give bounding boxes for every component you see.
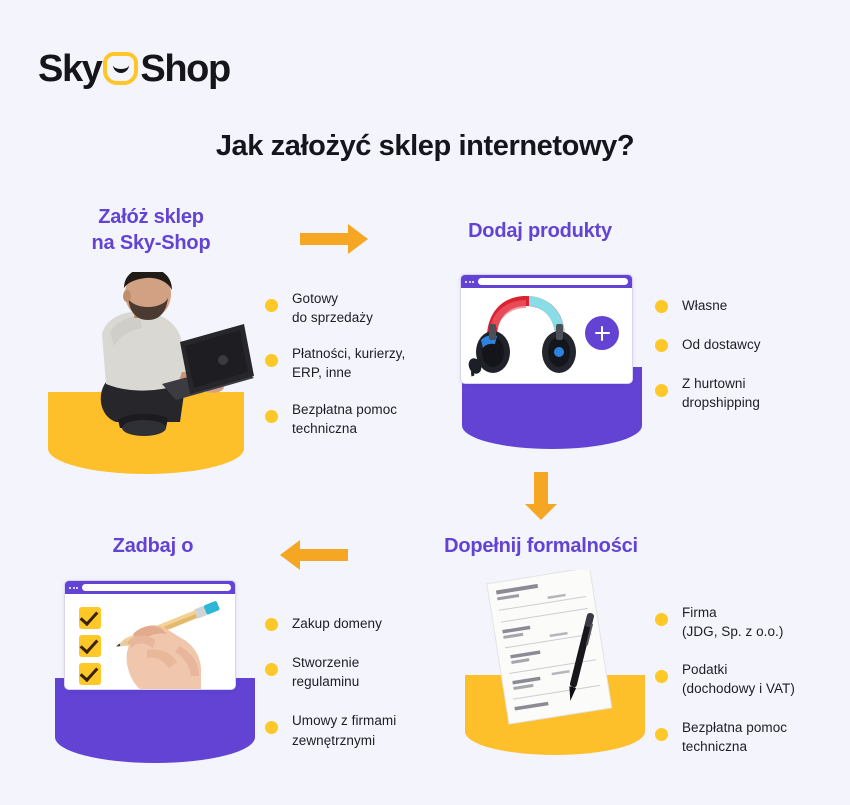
- bullet-dot-icon: [265, 618, 278, 631]
- list-item-label: Bezpłatna pomoc techniczna: [682, 718, 787, 756]
- list-item: Bezpłatna pomoc techniczna: [265, 401, 440, 438]
- list-item: Płatności, kurierzy, ERP, inne: [265, 345, 440, 382]
- check-icon: [80, 635, 99, 654]
- page-title: Jak założyć sklep internetowy?: [0, 130, 850, 163]
- list-item: Bezpłatna pomoc techniczna: [655, 719, 835, 756]
- bullet-dot-icon: [265, 721, 278, 734]
- list-item-label: Podatki (dochodowy i VAT): [682, 660, 795, 698]
- window-dots-icon: [465, 281, 474, 283]
- checkbox-item-1[interactable]: [79, 607, 101, 629]
- infographic-page: Sky Shop Jak założyć sklep internetowy? …: [0, 0, 850, 805]
- check-icon: [80, 607, 99, 626]
- step-2-heading: Dodaj produkty: [430, 219, 650, 245]
- document-with-pen-image: [460, 570, 650, 730]
- check-icon: [80, 663, 99, 682]
- window-dots-icon: [69, 587, 78, 589]
- bullet-dot-icon: [265, 354, 278, 367]
- logo-text-sky: Sky: [38, 50, 101, 88]
- browser-content-area: [461, 288, 632, 383]
- bullet-dot-icon: [265, 299, 278, 312]
- list-item-label: Zakup domeny: [292, 614, 382, 633]
- add-product-button[interactable]: [585, 316, 619, 350]
- step-3-heading: Dopełnij formalności: [425, 534, 657, 560]
- bullet-dot-icon: [265, 663, 278, 676]
- list-item-label: Stworzenie regulaminu: [292, 653, 359, 691]
- list-item-label: Gotowy do sprzedaży: [292, 289, 373, 327]
- browser-url-bar[interactable]: [478, 278, 628, 285]
- step-4-heading: Zadbaj o: [48, 534, 258, 560]
- hand-with-pencil-image: [107, 594, 231, 690]
- browser-content-area: [65, 594, 235, 689]
- bullet-dot-icon: [655, 613, 668, 626]
- illustration-product-headset: [455, 272, 645, 457]
- browser-window-mock: [460, 274, 633, 384]
- list-item-label: Własne: [682, 296, 727, 315]
- arrow-down-icon: [521, 470, 561, 527]
- list-item: Od dostawcy: [655, 336, 835, 354]
- bullet-dot-icon: [655, 384, 668, 397]
- man-with-laptop-photo: [58, 272, 258, 452]
- list-item: Gotowy do sprzedaży: [265, 290, 440, 327]
- bullet-dot-icon: [655, 339, 668, 352]
- list-item: Umowy z firmami zewnętrznymi: [265, 712, 440, 749]
- illustration-man-with-laptop: [48, 272, 248, 477]
- illustration-checklist-hand: [50, 578, 260, 763]
- bullet-dot-icon: [655, 728, 668, 741]
- browser-title-bar: [461, 275, 632, 288]
- smiley-square-icon: [103, 52, 138, 85]
- bullet-dot-icon: [655, 670, 668, 683]
- smile-curve: [113, 65, 129, 73]
- list-item: Podatki (dochodowy i VAT): [655, 661, 835, 698]
- gaming-headset-image: [467, 288, 585, 380]
- illustration-formal-document: [460, 570, 650, 760]
- list-item-label: Płatności, kurierzy, ERP, inne: [292, 344, 405, 382]
- bullet-dot-icon: [655, 300, 668, 313]
- list-item-label: Z hurtowni dropshipping: [682, 374, 760, 412]
- step-3-bullet-list: Firma (JDG, Sp. z o.o.) Podatki (dochodo…: [655, 604, 835, 776]
- list-item-label: Umowy z firmami zewnętrznymi: [292, 711, 396, 749]
- list-item: Z hurtowni dropshipping: [655, 375, 835, 412]
- list-item: Zakup domeny: [265, 615, 440, 633]
- list-item: Firma (JDG, Sp. z o.o.): [655, 604, 835, 641]
- browser-window-mock: [64, 580, 236, 690]
- list-item-label: Bezpłatna pomoc techniczna: [292, 400, 397, 438]
- sky-shop-logo[interactable]: Sky Shop: [38, 50, 230, 88]
- list-item-label: Firma (JDG, Sp. z o.o.): [682, 603, 783, 641]
- step-1-bullet-list: Gotowy do sprzedaży Płatności, kurierzy,…: [265, 290, 440, 456]
- checkbox-item-3[interactable]: [79, 663, 101, 685]
- bullet-dot-icon: [265, 410, 278, 423]
- step-2-bullet-list: Własne Od dostawcy Z hurtowni dropshippi…: [655, 297, 835, 434]
- list-item-label: Od dostawcy: [682, 335, 761, 354]
- browser-url-bar[interactable]: [82, 584, 231, 591]
- purple-bowl-shape: [55, 678, 255, 763]
- browser-title-bar: [65, 581, 235, 594]
- step-4-bullet-list: Zakup domeny Stworzenie regulaminu Umowy…: [265, 615, 440, 771]
- checkbox-item-2[interactable]: [79, 635, 101, 657]
- list-item: Własne: [655, 297, 835, 315]
- step-1-heading: Załóż sklep na Sky-Shop: [40, 205, 262, 256]
- list-item: Stworzenie regulaminu: [265, 654, 440, 691]
- arrow-left-icon: [278, 535, 350, 580]
- arrow-right-icon: [298, 219, 370, 264]
- logo-text-shop: Shop: [140, 50, 229, 88]
